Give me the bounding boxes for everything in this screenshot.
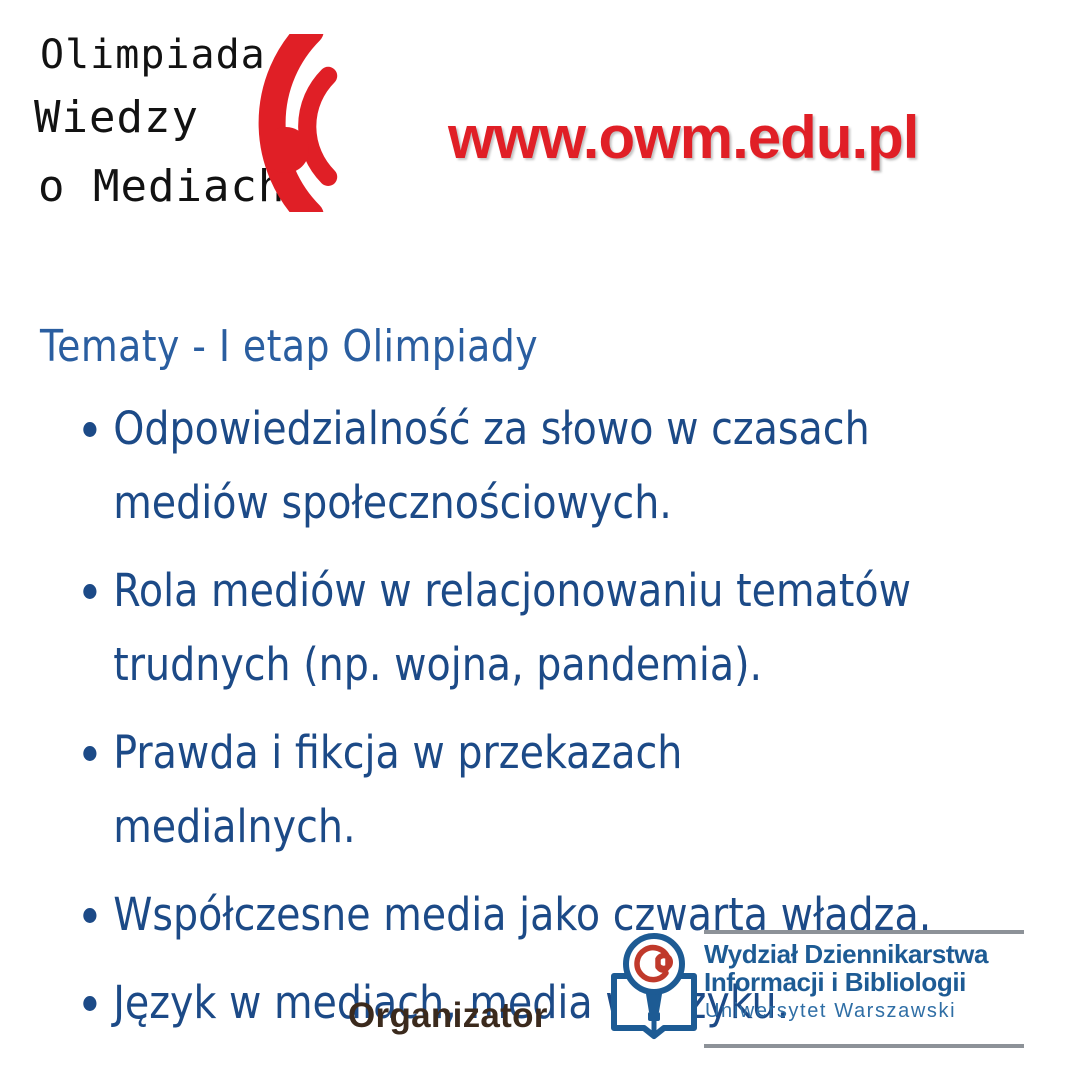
at-bulb-book-icon: [608, 932, 700, 1044]
faculty-university: Uniwersytet Warszawski: [705, 1000, 956, 1022]
faculty-name: Wydział Dziennikarstwa Informacji i Bibl…: [704, 940, 1024, 996]
list-item: Prawda i fikcja w przekazach medialnych.: [78, 716, 933, 864]
wifi-signal-icon: [224, 34, 402, 212]
divider-bottom: [704, 1044, 1024, 1048]
faculty-logo: Wydział Dziennikarstwa Informacji i Bibl…: [608, 926, 1024, 1050]
faculty-name-line-2: Informacji i Bibliologii: [704, 968, 1024, 996]
list-item: Rola mediów w relacjonowaniu tematów tru…: [78, 554, 933, 702]
divider-top: [704, 930, 1024, 934]
list-item-label: Prawda i fikcja w przekazach medialnych.: [113, 726, 682, 853]
poster-canvas: Olimpiada Wiedzy o Mediach www.owm.edu.p…: [0, 0, 1080, 1080]
bullet-icon: [83, 422, 96, 437]
list-item: Odpowiedzialność za słowo w czasach medi…: [78, 392, 933, 540]
organizer-label: Organizator: [348, 996, 548, 1036]
faculty-text-block: Wydział Dziennikarstwa Informacji i Bibl…: [704, 926, 1024, 1050]
page-title: Tematy - I etap Olimpiady: [40, 320, 934, 374]
faculty-name-line-1: Wydział Dziennikarstwa: [704, 939, 988, 969]
owm-logo: Olimpiada Wiedzy o Mediach: [28, 18, 398, 248]
list-item-label: Odpowiedzialność za słowo w czasach medi…: [113, 402, 869, 529]
website-url[interactable]: www.owm.edu.pl: [448, 103, 918, 172]
footer: Organizator Wydz: [0, 918, 1080, 1058]
bullet-icon: [83, 584, 96, 599]
list-item-label: Rola mediów w relacjonowaniu tematów tru…: [113, 564, 911, 691]
bullet-icon: [83, 746, 96, 761]
